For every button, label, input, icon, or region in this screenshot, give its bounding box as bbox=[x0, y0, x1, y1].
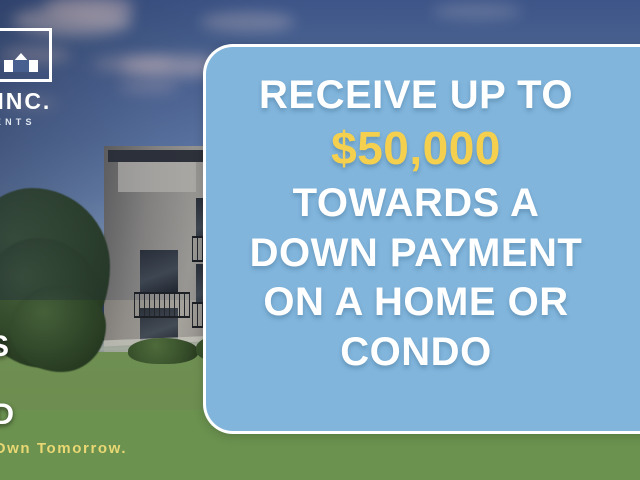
offer-line-3: DOWN PAYMENT bbox=[206, 233, 626, 274]
parapet-block bbox=[118, 162, 196, 192]
cloud-icon bbox=[118, 80, 178, 93]
left-headline-line-1: EYS bbox=[0, 330, 208, 364]
brand-logo: Y INC. PMENTS bbox=[0, 28, 100, 127]
left-headline-line-2: I bbox=[0, 364, 208, 398]
brand-name: Y INC. bbox=[0, 88, 100, 115]
balcony-railing bbox=[134, 292, 190, 318]
window-pane bbox=[140, 250, 178, 294]
left-headline: EYS I AND bbox=[0, 330, 208, 432]
promotional-banner: Y INC. PMENTS EYS I AND oday. Own Tomorr… bbox=[0, 0, 640, 480]
offer-amount: $50,000 bbox=[206, 125, 626, 172]
offer-line-5: CONDO bbox=[206, 332, 626, 373]
house-outline-logo-icon bbox=[0, 28, 52, 82]
offer-line-1: RECEIVE UP TO bbox=[206, 75, 626, 116]
cloud-icon bbox=[200, 12, 295, 32]
offer-line-4: ON A HOME OR bbox=[206, 282, 626, 323]
offer-line-2: TOWARDS A bbox=[206, 183, 626, 224]
offer-card-copy: RECEIVE UP TO $50,000 TOWARDS A DOWN PAY… bbox=[206, 75, 626, 382]
cloud-icon bbox=[432, 2, 522, 20]
brand-subtitle: PMENTS bbox=[0, 117, 100, 127]
offer-card: RECEIVE UP TO $50,000 TOWARDS A DOWN PAY… bbox=[203, 44, 640, 434]
brand-tagline: oday. Own Tomorrow. bbox=[0, 440, 127, 457]
house-door-shape bbox=[13, 60, 29, 72]
left-headline-line-3: AND bbox=[0, 398, 208, 432]
